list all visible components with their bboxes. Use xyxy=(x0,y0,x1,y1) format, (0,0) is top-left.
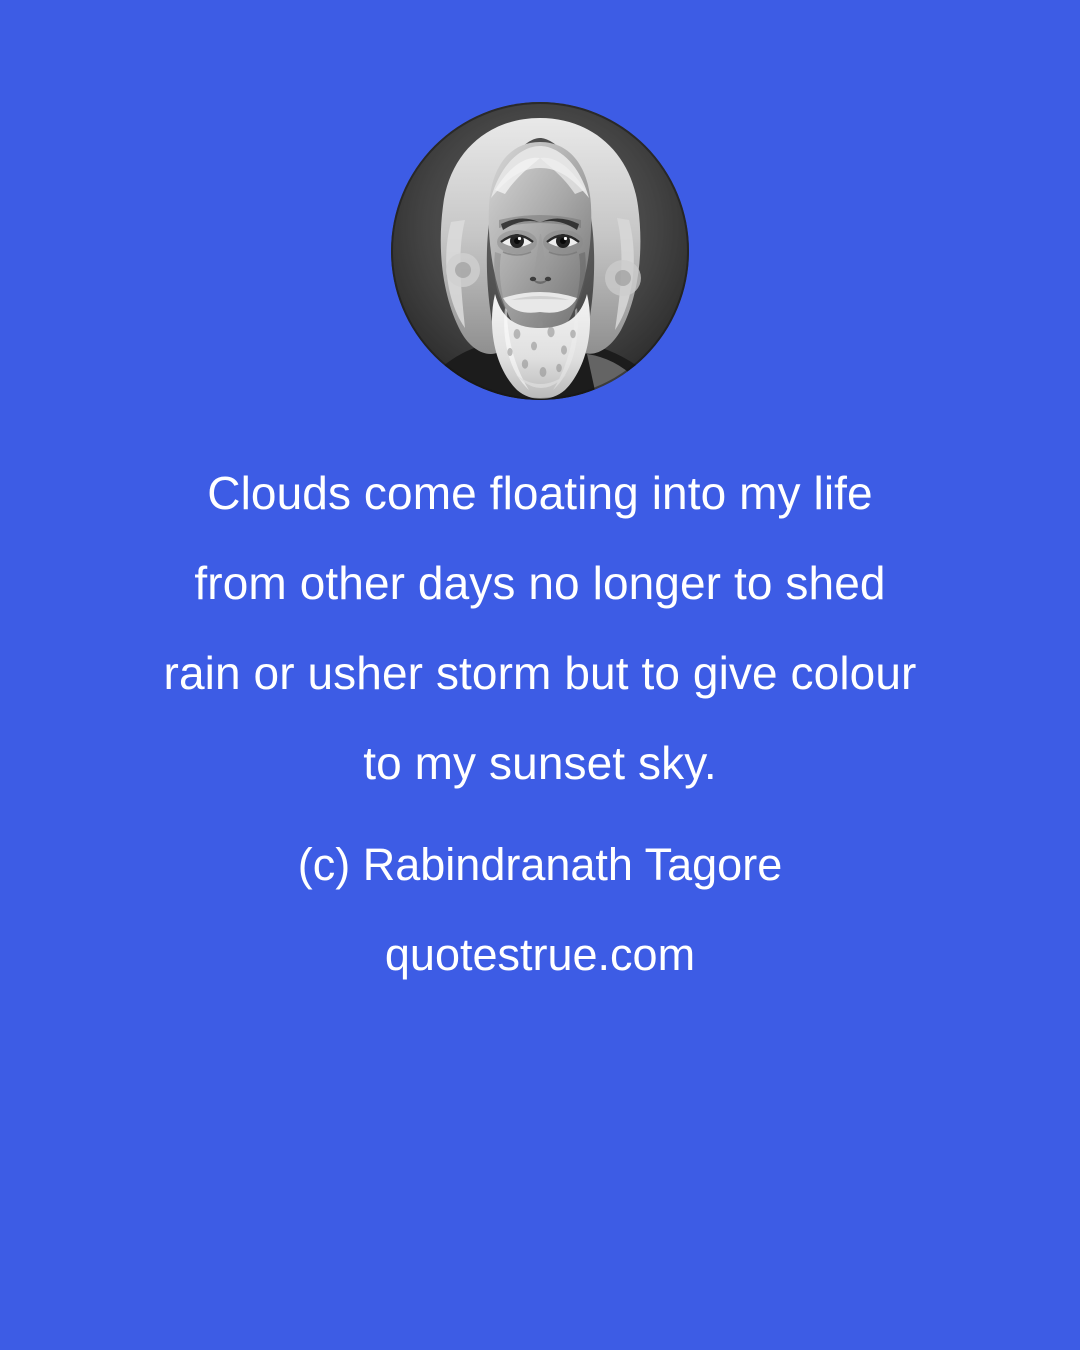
quote-line: to my sunset sky. xyxy=(60,718,1020,808)
quote-line: from other days no longer to shed xyxy=(60,538,1020,628)
quote-line: rain or usher storm but to give colour xyxy=(60,628,1020,718)
source-website[interactable]: quotestrue.com xyxy=(60,924,1020,986)
attribution: (c) Rabindranath Tagore quotestrue.com xyxy=(60,834,1020,986)
quote-author: (c) Rabindranath Tagore xyxy=(60,834,1020,896)
quote-line: Clouds come floating into my life xyxy=(60,448,1020,538)
quote-card: Clouds come floating into my life from o… xyxy=(0,0,1080,1350)
quote-text: Clouds come floating into my life from o… xyxy=(60,448,1020,808)
author-portrait-circle xyxy=(391,102,689,400)
